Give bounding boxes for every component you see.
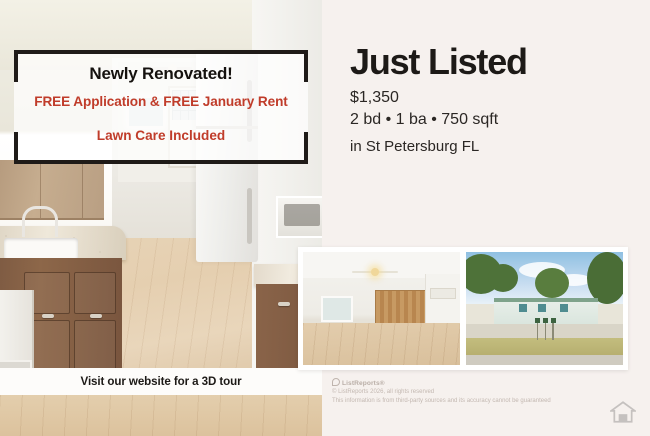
- mailbox-post: [537, 322, 539, 340]
- tree-shape: [535, 268, 569, 298]
- mailbox-post: [545, 322, 547, 340]
- mailbox-icon: [535, 318, 540, 323]
- promo-headline: Newly Renovated!: [14, 64, 308, 84]
- thumbnail-gallery: [298, 247, 628, 370]
- promo-banner: Newly Renovated! FREE Application & FREE…: [14, 50, 308, 164]
- equal-housing-opportunity-icon: [610, 400, 636, 424]
- tree-shape: [587, 252, 623, 304]
- thumbnail-bedroom[interactable]: [303, 252, 460, 365]
- microwave-door-glass: [284, 204, 320, 226]
- footer-copyright: © ListReports 2026, all rights reserved: [332, 388, 582, 397]
- tour-callout[interactable]: Visit our website for a 3D tour: [0, 368, 322, 395]
- mailbox-icon: [543, 318, 548, 323]
- promo-offer: FREE Application & FREE January Rent: [14, 94, 308, 109]
- page-title: Just Listed: [350, 44, 527, 80]
- house-window: [519, 304, 527, 312]
- thumbnail-house-exterior[interactable]: [466, 252, 623, 365]
- kitchen-sink: [4, 238, 78, 260]
- exterior-road: [466, 355, 623, 365]
- listreports-logo: ListReports®: [332, 378, 385, 387]
- tree-shape: [488, 264, 518, 292]
- kitchen-foreground-floor: [0, 392, 322, 436]
- listing-price: $1,350: [350, 89, 399, 107]
- bedroom-floor: [303, 323, 460, 365]
- bedroom-wall-vent: [430, 288, 456, 299]
- listing-flyer: Newly Renovated! FREE Application & FREE…: [0, 0, 650, 436]
- listing-specs: 2 bd • 1 ba • 750 sqft: [350, 111, 498, 129]
- house-window: [538, 304, 546, 312]
- kitchen-faucet: [22, 206, 58, 237]
- listreports-mark-icon: [332, 378, 340, 386]
- mailbox-icon: [551, 318, 556, 323]
- footer-disclaimer: This information is from third-party sou…: [332, 397, 582, 406]
- listing-location: in St Petersburg FL: [350, 138, 479, 155]
- bedroom-ceiling-fan-icon: [352, 267, 398, 277]
- tour-callout-label: Visit our website for a 3D tour: [81, 375, 242, 388]
- house-window: [560, 304, 568, 312]
- listreports-brand-label: ListReports®: [342, 380, 385, 387]
- footer: ListReports® © ListReports 2026, all rig…: [322, 372, 650, 436]
- mailbox-post: [552, 322, 554, 340]
- banner-top-rule: [48, 50, 274, 54]
- banner-bottom-rule: [48, 160, 274, 164]
- listing-info-panel: Just Listed $1,350 2 bd • 1 ba • 750 sqf…: [322, 0, 650, 436]
- bedroom-window: [321, 296, 353, 322]
- promo-extra: Lawn Care Included: [14, 128, 308, 143]
